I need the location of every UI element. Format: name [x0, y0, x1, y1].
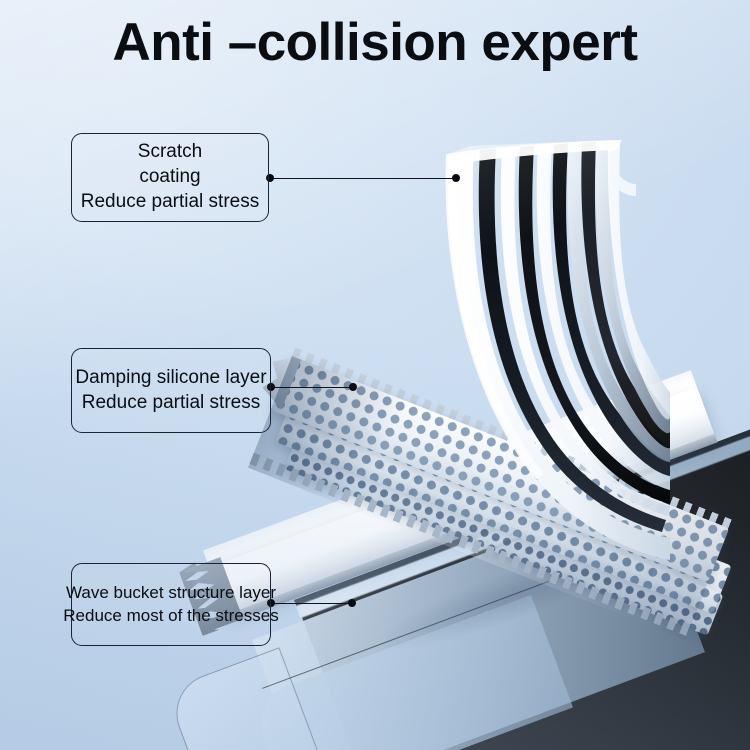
phone-edge-highlight	[296, 382, 750, 618]
phone-glass-corner	[250, 595, 573, 750]
phone-edge-shadow	[294, 374, 750, 606]
callout-damping-silicone: Damping silicone layer Reduce partial st…	[71, 348, 271, 433]
callout-scratch-coating: Scratch coating Reduce partial stress	[71, 133, 269, 222]
callout-line: Reduce partial stress	[81, 190, 259, 215]
mesh-band-mid	[275, 393, 731, 614]
callout-line: Damping silicone layer	[75, 366, 266, 391]
damping-silicone-layer	[248, 356, 729, 640]
panel-bottom-edge	[227, 434, 718, 623]
mesh-shading-overlay	[248, 356, 729, 640]
scratch-coating-layer	[440, 140, 670, 570]
phone-body	[300, 395, 750, 750]
leader-dot-target-scratch-coating	[452, 174, 460, 182]
leader-line-wave-bucket	[271, 603, 352, 604]
phone-glass-panel	[252, 493, 705, 750]
callout-line: Wave bucket structure layer	[63, 582, 278, 604]
panel-front-face	[209, 387, 715, 618]
callout-line: Reduce partial stress	[75, 391, 266, 416]
panel-top-face	[203, 370, 698, 571]
mesh-band-front	[271, 356, 730, 582]
leader-line-scratch-coating	[270, 178, 456, 179]
callout-line: Reduce most of the stresses	[63, 605, 278, 627]
mesh-bottom-teeth	[249, 453, 691, 636]
callout-line: coating	[81, 165, 259, 190]
phone-corner-outline	[165, 647, 322, 750]
panel-drop-shadow	[301, 489, 729, 702]
phone-seam-line	[262, 551, 628, 689]
page-title: Anti –collision expert	[0, 14, 750, 72]
leader-dot-target-wave-bucket	[348, 599, 356, 607]
callout-line: Scratch	[81, 140, 259, 165]
mesh-top-teeth	[291, 348, 733, 531]
product-marketing-image: Anti –collision expert Scratch coating R…	[0, 0, 750, 750]
leader-dot-target-damping-silicone	[349, 383, 357, 391]
leader-line-damping-silicone	[271, 387, 353, 388]
sheet-ribs	[440, 140, 670, 570]
callout-wave-bucket: Wave bucket structure layer Reduce most …	[71, 563, 271, 646]
